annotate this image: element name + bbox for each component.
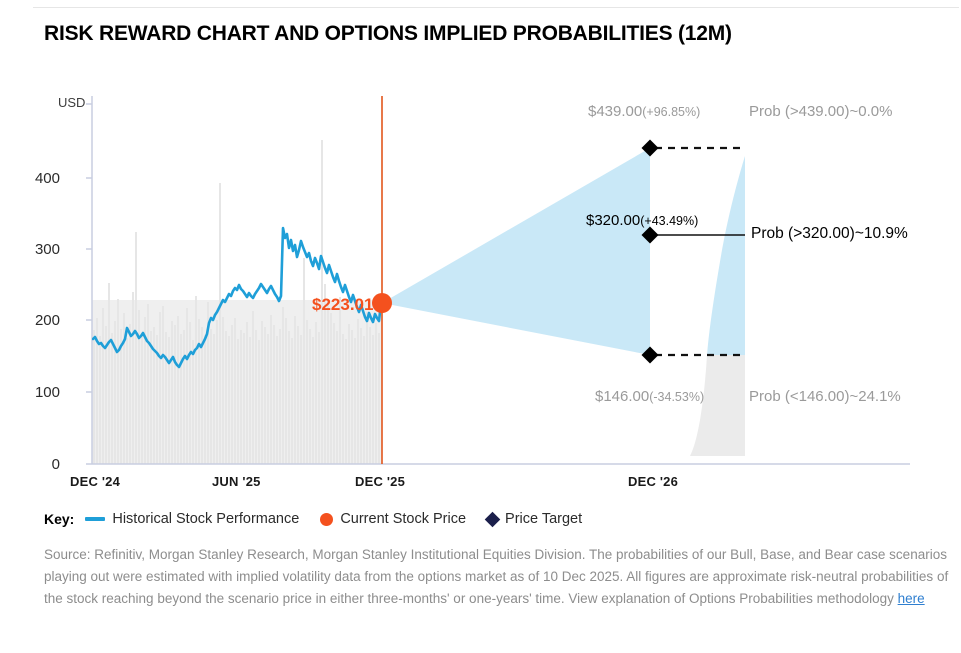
diamond-marker-icon (485, 511, 501, 527)
probability-distribution (690, 156, 745, 456)
y-tick-100: 100 (14, 384, 60, 401)
bear-case-probability: Prob (<146.00)~24.1% (749, 388, 901, 405)
current-price-marker (372, 293, 392, 313)
legend-label-target: Price Target (505, 511, 582, 527)
base-price-value: $320.00 (586, 212, 640, 229)
line-swatch-icon (85, 517, 105, 521)
y-tick-400: 400 (14, 170, 60, 187)
bull-case-probability: Prob (>439.00)~0.0% (749, 103, 892, 120)
projection-cone (382, 148, 650, 355)
legend-item-current: Current Stock Price (320, 511, 466, 527)
methodology-link[interactable]: here (898, 591, 925, 606)
source-text: Source: Refinitiv, Morgan Stanley Resear… (44, 547, 948, 606)
x-tick-jun-25: JUN '25 (212, 474, 261, 489)
y-tick-200: 200 (14, 312, 60, 329)
y-tick-0: 0 (14, 456, 60, 473)
bear-case-price: $146.00(-34.53%) (595, 388, 704, 405)
risk-reward-chart (0, 0, 961, 500)
bull-price-change: (+96.85%) (642, 105, 700, 119)
legend-label-current: Current Stock Price (340, 511, 466, 527)
y-axis-unit-label: USD (58, 95, 85, 110)
bull-price-value: $439.00 (588, 103, 642, 120)
bull-case-price: $439.00(+96.85%) (588, 103, 700, 120)
chart-legend: Key: Historical Stock Performance Curren… (44, 511, 596, 527)
base-case-probability: Prob (>320.00)~10.9% (751, 225, 908, 243)
base-price-change: (+43.49%) (640, 214, 698, 228)
circle-marker-icon (320, 513, 333, 526)
legend-key-label: Key: (44, 511, 74, 527)
base-case-price: $320.00(+43.49%) (586, 212, 698, 229)
x-tick-dec-24: DEC '24 (70, 474, 120, 489)
y-axis-ticks (86, 104, 92, 464)
legend-item-historical: Historical Stock Performance (85, 511, 299, 527)
bear-price-change: (-34.53%) (649, 390, 704, 404)
current-price-label: $223.01 (312, 295, 373, 315)
bear-price-value: $146.00 (595, 388, 649, 405)
legend-item-target: Price Target (487, 511, 582, 527)
legend-label-historical: Historical Stock Performance (112, 511, 299, 527)
x-tick-dec-26: DEC '26 (628, 474, 678, 489)
y-tick-300: 300 (14, 241, 60, 258)
x-tick-dec-25: DEC '25 (355, 474, 405, 489)
source-note: Source: Refinitiv, Morgan Stanley Resear… (44, 544, 949, 610)
